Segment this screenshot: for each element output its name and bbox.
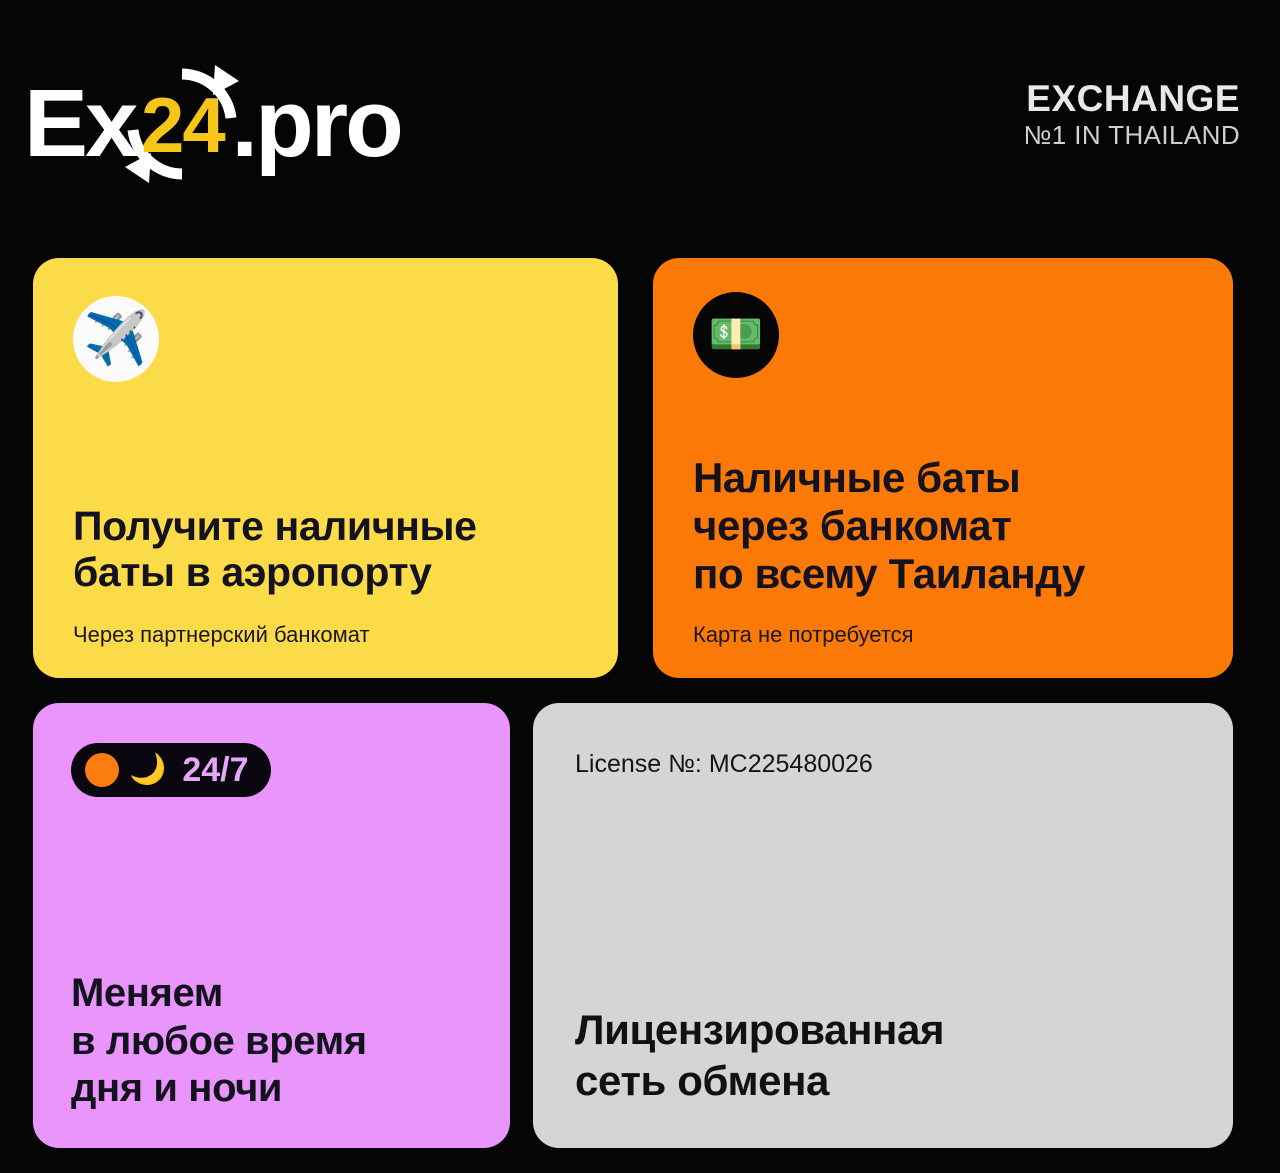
- status-badge-247: 🌙 24/7: [71, 743, 271, 797]
- logo-prefix: Ex: [24, 76, 135, 172]
- card-title: Получите наличные баты в аэропорту: [73, 504, 578, 596]
- tagline-sub: №1 IN THAILAND: [1023, 121, 1240, 151]
- airplane-glyph: ✈️: [84, 313, 149, 365]
- card-title: Лицензированная сеть обмена: [575, 1005, 1193, 1106]
- promo-banner: Ex 24 .pro EXCHANGE №1 IN THAILAND ✈️: [0, 0, 1280, 1173]
- logo-suffix: .pro: [231, 76, 400, 172]
- tagline: EXCHANGE №1 IN THAILAND: [1023, 80, 1240, 151]
- crescent-moon-icon: 🌙: [129, 755, 166, 785]
- tagline-main: EXCHANGE: [1023, 80, 1240, 119]
- badge-label: 24/7: [182, 753, 248, 787]
- card-title: Меняем в любое время дня и ночи: [71, 970, 474, 1112]
- refresh-cycle-icon: 24: [119, 61, 245, 187]
- card-title: Наличные баты через банкомат по всему Та…: [693, 454, 1193, 598]
- airplane-icon: ✈️: [73, 296, 159, 382]
- card-licensed-network[interactable]: License №: MC225480026 Лицензированная с…: [533, 703, 1233, 1148]
- banknotes-icon: 💵: [693, 292, 779, 378]
- card-subtitle: Через партнерский банкомат: [73, 622, 578, 648]
- card-atm-thailand[interactable]: 💵 Наличные баты через банкомат по всему …: [653, 258, 1233, 678]
- logo-badge-number: 24: [141, 86, 224, 164]
- card-airport-cash[interactable]: ✈️ Получите наличные баты в аэропорту Че…: [33, 258, 618, 678]
- brand-logo[interactable]: Ex 24 .pro: [24, 62, 401, 186]
- license-number: License №: MC225480026: [575, 749, 1193, 779]
- card-subtitle: Карта не потребуется: [693, 622, 1193, 648]
- header: Ex 24 .pro EXCHANGE №1 IN THAILAND: [0, 0, 1280, 240]
- sun-icon: [85, 753, 119, 787]
- card-open-247[interactable]: 🌙 24/7 Меняем в любое время дня и ночи: [33, 703, 510, 1148]
- banknotes-glyph: 💵: [709, 313, 764, 357]
